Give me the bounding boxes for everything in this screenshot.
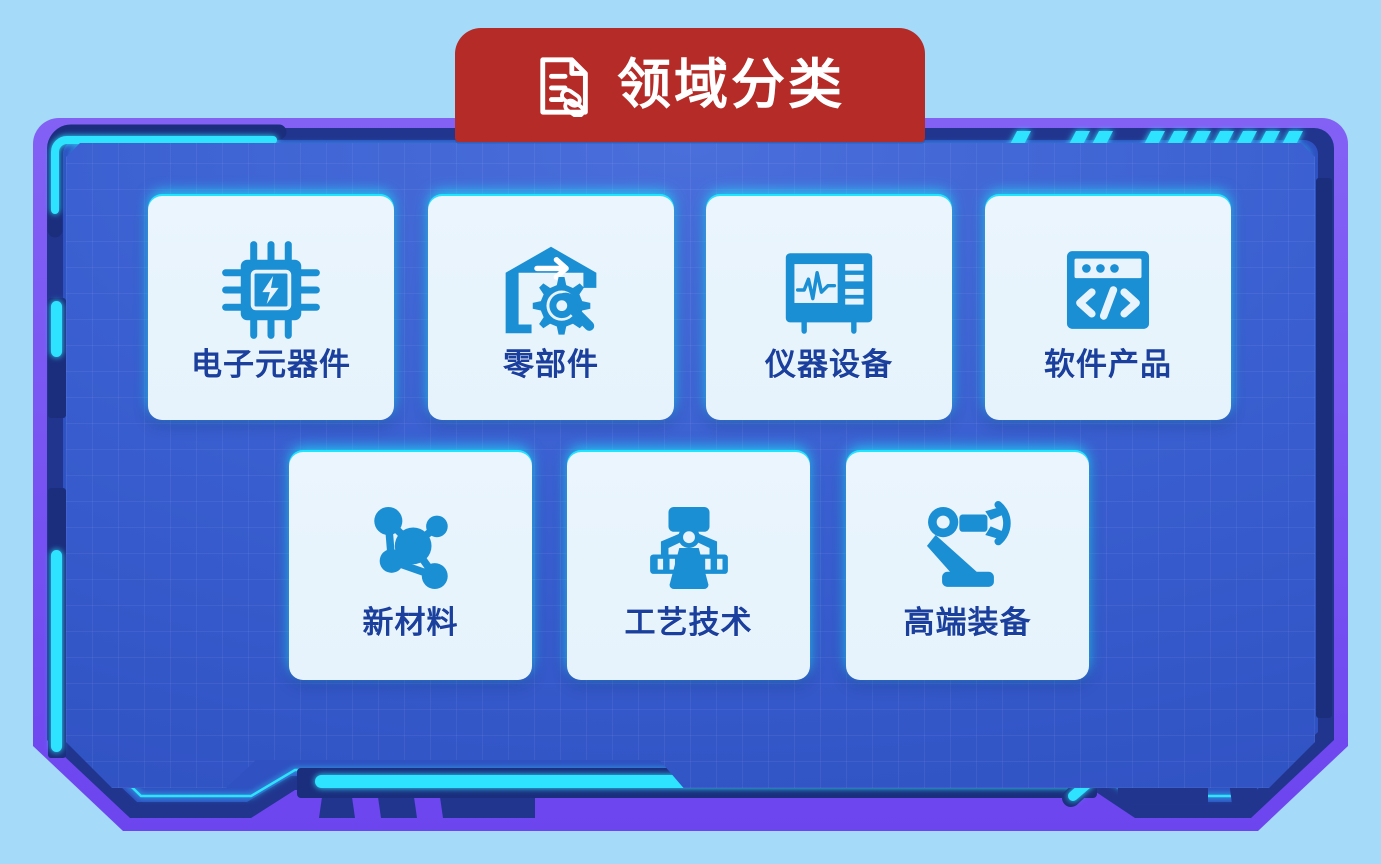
warehouse-gear-wrench-icon <box>497 236 605 344</box>
category-card-parts[interactable]: 零部件 <box>428 196 674 420</box>
category-card-instruments[interactable]: 仪器设备 <box>706 196 952 420</box>
oscilloscope-icon <box>775 236 883 344</box>
chip-bolt-icon <box>217 236 325 344</box>
category-card-label: 仪器设备 <box>765 350 893 381</box>
page-title-banner: 领域分类 <box>455 28 925 142</box>
category-card-label: 零部件 <box>503 350 599 381</box>
category-card-label: 新材料 <box>363 608 459 639</box>
category-card-electronic-components[interactable]: 电子元器件 <box>148 196 394 420</box>
category-card-label: 高端装备 <box>904 608 1032 639</box>
document-link-icon <box>535 55 597 117</box>
category-card-label: 工艺技术 <box>625 608 753 639</box>
category-card-label: 电子元器件 <box>191 350 351 381</box>
category-card-label: 软件产品 <box>1044 350 1172 381</box>
molecule-network-icon <box>357 494 465 602</box>
process-machine-icon <box>635 494 743 602</box>
robot-arm-icon <box>914 494 1022 602</box>
page-title: 领域分类 <box>617 58 845 112</box>
category-card-new-materials[interactable]: 新材料 <box>289 452 532 680</box>
category-card-process-technology[interactable]: 工艺技术 <box>567 452 810 680</box>
code-window-icon <box>1054 236 1162 344</box>
category-card-high-end-equipment[interactable]: 高端装备 <box>846 452 1089 680</box>
category-card-software[interactable]: 软件产品 <box>985 196 1231 420</box>
